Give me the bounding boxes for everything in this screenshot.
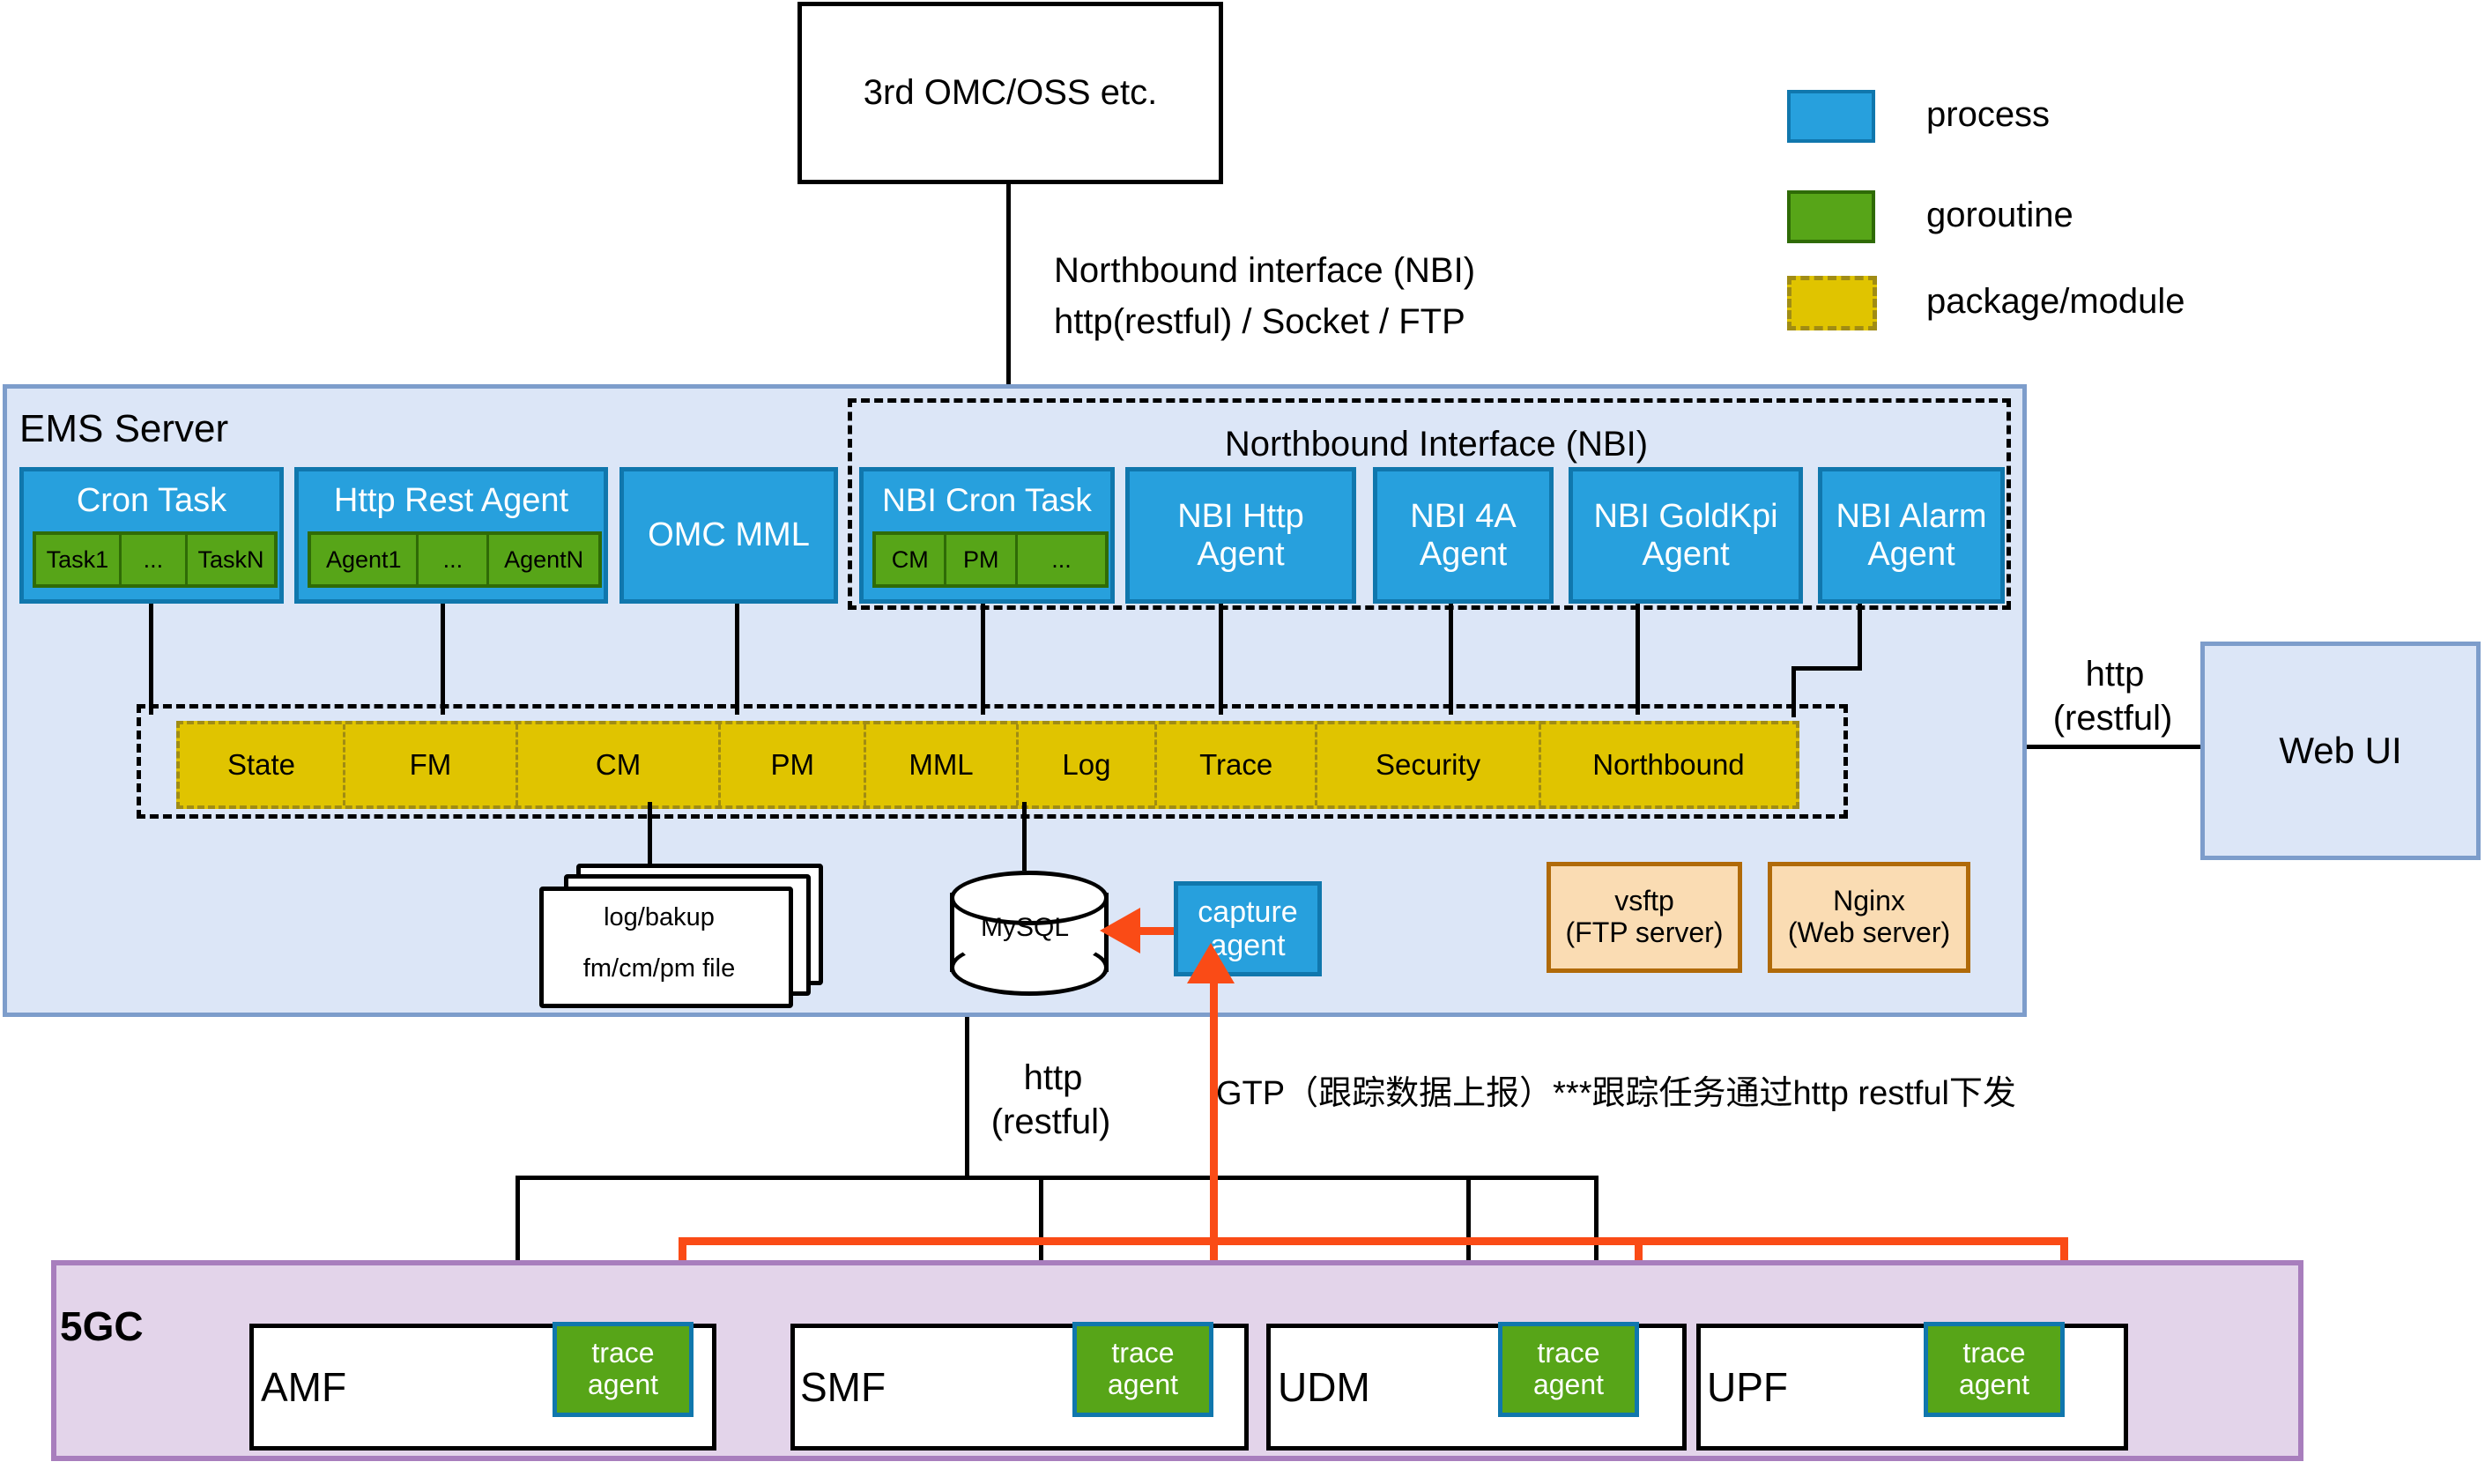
process-nbi-cron-task[interactable]: NBI Cron Task CM PM ... — [859, 467, 1115, 604]
third-party-omc-oss-label: 3rd OMC/OSS etc. — [864, 73, 1157, 113]
ems-server-title: EMS Server — [19, 407, 228, 451]
goroutine-strip-nbi-cron-task: CM PM ... — [872, 531, 1109, 588]
legend-swatch-process — [1787, 90, 1875, 143]
trace-agent-amf[interactable]: trace agent — [553, 1322, 694, 1417]
trace-agent-upf[interactable]: trace agent — [1924, 1322, 2065, 1417]
file-store-label-line1: log/bakup — [536, 899, 783, 938]
legend-label-package: package/module — [1926, 282, 2185, 322]
server-vsftp-line2: (FTP server) — [1566, 917, 1724, 949]
goroutine-strip-cron-task: Task1 ... TaskN — [33, 531, 278, 588]
connector-log-to-mysql — [1022, 802, 1027, 871]
legend-swatch-package — [1787, 276, 1877, 330]
goroutine-item[interactable]: PM — [946, 535, 1017, 584]
module-cm[interactable]: CM — [518, 724, 721, 805]
architecture-diagram: process goroutine package/module 3rd OMC… — [0, 0, 2485, 1484]
connector-omc-to-nbi — [1006, 184, 1011, 389]
third-party-omc-oss-box[interactable]: 3rd OMC/OSS etc. — [797, 2, 1223, 184]
trace-agent-udm-label: trace agent — [1533, 1338, 1604, 1401]
process-nbi-4a-agent-label: NBI 4A Agent — [1410, 498, 1516, 573]
server-vsftp[interactable]: vsftp (FTP server) — [1547, 862, 1742, 973]
server-nginx[interactable]: Nginx (Web server) — [1768, 862, 1970, 973]
process-nbi-http-agent-label: NBI Http Agent — [1177, 498, 1304, 573]
webui-box[interactable]: Web UI — [2200, 642, 2481, 860]
nbi-group-title: Northbound Interface (NBI) — [1057, 423, 1815, 465]
connector-nbi-cron-task-to-modules — [981, 604, 985, 715]
process-nbi-4a-agent[interactable]: NBI 4A Agent — [1373, 467, 1554, 604]
goroutine-item[interactable]: AgentN — [489, 535, 598, 584]
process-nbi-goldkpi-agent[interactable]: NBI GoldKpi Agent — [1569, 467, 1803, 604]
process-nbi-http-agent[interactable]: NBI Http Agent — [1125, 467, 1356, 604]
module-security[interactable]: Security — [1317, 724, 1541, 805]
legend-label-process: process — [1926, 95, 2050, 135]
process-http-rest-agent-label: Http Rest Agent — [299, 479, 604, 523]
legend-label-goroutine: goroutine — [1926, 196, 2073, 235]
connector-nbi-4a-agent-to-modules — [1449, 604, 1453, 715]
module-fm[interactable]: FM — [345, 724, 518, 805]
connector-http-rest-agent-to-modules — [441, 604, 445, 715]
arrow-capture-to-mysql-head — [1100, 908, 1140, 953]
trace-agent-smf[interactable]: trace agent — [1072, 1322, 1213, 1417]
webui-label: Web UI — [2279, 730, 2401, 771]
server-vsftp-line1: vsftp — [1614, 886, 1674, 917]
connector-omc-mml-to-modules — [735, 604, 739, 715]
goroutine-item[interactable]: Task1 — [36, 535, 122, 584]
connector-nbi-http-agent-to-modules — [1219, 604, 1223, 715]
goroutine-item[interactable]: TaskN — [188, 535, 274, 584]
process-nbi-alarm-agent-label: NBI Alarm Agent — [1836, 498, 1986, 573]
module-log[interactable]: Log — [1019, 724, 1157, 805]
legend-swatch-goroutine — [1787, 190, 1875, 243]
module-mml[interactable]: MML — [866, 724, 1019, 805]
process-cron-task-label: Cron Task — [24, 479, 279, 523]
goroutine-item[interactable]: ... — [419, 535, 489, 584]
process-nbi-cron-task-label: NBI Cron Task — [864, 479, 1110, 523]
process-cron-task[interactable]: Cron Task Task1 ... TaskN — [19, 467, 284, 604]
module-trace[interactable]: Trace — [1157, 724, 1317, 805]
connector-nbi-alarm-seg-left — [1791, 666, 1862, 671]
nf-smf-label: SMF — [800, 1363, 886, 1411]
http-restful-label-line1: http — [974, 1057, 1132, 1098]
http-restful-label-line2: (restful) — [956, 1102, 1146, 1142]
connector-ems-to-webui — [2027, 745, 2203, 749]
goroutine-strip-http-rest-agent: Agent1 ... AgentN — [308, 531, 602, 588]
mysql-database-icon: MySQL — [950, 871, 1100, 994]
orange-capture-trunk-arrowhead — [1187, 943, 1235, 983]
nbi-link-label-line2: http(restful) / Socket / FTP — [1054, 302, 1465, 342]
connector-nbi-goldkpi-agent-to-modules — [1636, 604, 1640, 715]
connector-cron-task-to-modules — [149, 604, 153, 715]
server-nginx-line1: Nginx — [1833, 886, 1905, 917]
goroutine-item[interactable]: ... — [122, 535, 188, 584]
connector-cm-to-file-store — [648, 802, 652, 871]
file-store-label-line2: fm/cm/pm file — [536, 950, 783, 989]
module-northbound[interactable]: Northbound — [1541, 724, 1796, 805]
trace-agent-udm[interactable]: trace agent — [1498, 1322, 1639, 1417]
goroutine-item[interactable]: CM — [876, 535, 946, 584]
module-pm[interactable]: PM — [721, 724, 866, 805]
nf-upf-label: UPF — [1707, 1363, 1788, 1411]
process-omc-mml-label: OMC MML — [648, 516, 810, 554]
connector-ems-to-bus-vertical — [965, 1017, 969, 1178]
goroutine-item[interactable]: ... — [1018, 535, 1105, 584]
mysql-label: MySQL — [950, 913, 1100, 943]
process-http-rest-agent[interactable]: Http Rest Agent Agent1 ... AgentN — [294, 467, 608, 604]
connector-nbi-alarm-seg-down1 — [1858, 604, 1862, 670]
goroutine-item[interactable]: Agent1 — [311, 535, 419, 584]
trace-agent-amf-label: trace agent — [588, 1338, 658, 1401]
module-bar: State FM CM PM MML Log Trace Security No… — [176, 721, 1799, 809]
process-nbi-goldkpi-agent-label: NBI GoldKpi Agent — [1593, 498, 1777, 573]
orange-trace-bus-horizontal — [679, 1237, 2068, 1245]
gtp-note-label: GTP（跟踪数据上报）***跟踪任务通过http restful下发 — [1216, 1065, 2016, 1114]
module-state[interactable]: State — [180, 724, 345, 805]
webui-link-label-line2: (restful) — [2018, 698, 2207, 738]
connector-nf-bus-horizontal — [516, 1176, 1599, 1180]
trace-agent-smf-label: trace agent — [1108, 1338, 1178, 1401]
nf-amf-label: AMF — [261, 1363, 346, 1411]
webui-link-label-line1: http — [2036, 654, 2194, 694]
trace-agent-upf-label: trace agent — [1959, 1338, 2029, 1401]
server-nginx-line2: (Web server) — [1788, 917, 1950, 949]
nf-udm-label: UDM — [1278, 1363, 1370, 1411]
fivegc-title: 5GC — [60, 1302, 144, 1350]
process-omc-mml[interactable]: OMC MML — [619, 467, 838, 604]
nbi-link-label-line1: Northbound interface (NBI) — [1054, 251, 1475, 291]
process-nbi-alarm-agent[interactable]: NBI Alarm Agent — [1818, 467, 2005, 604]
